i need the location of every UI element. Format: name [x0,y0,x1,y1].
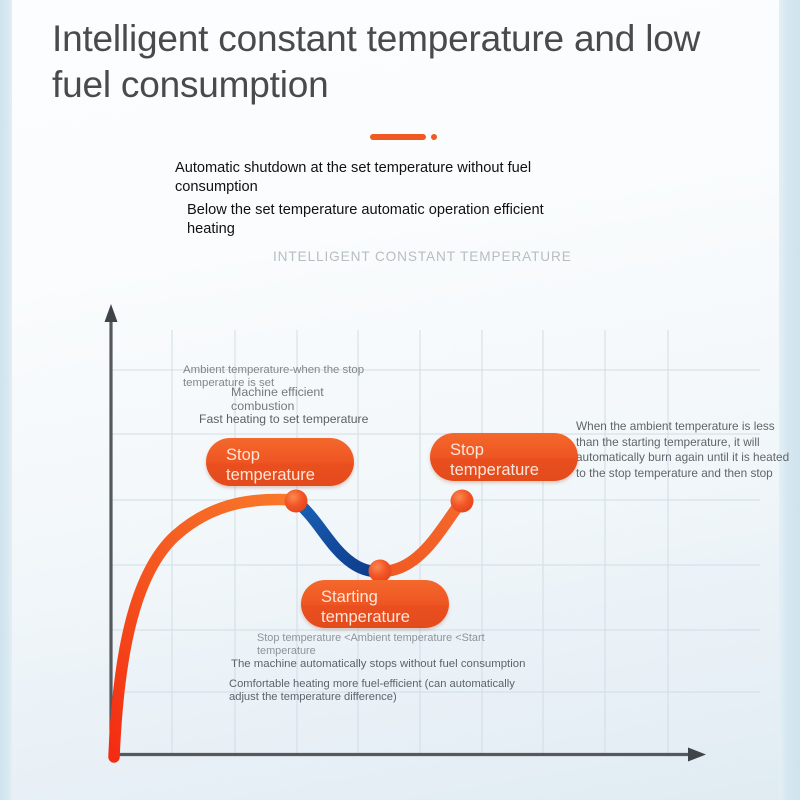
curve-shutdown-cooling [296,501,380,572]
annotation-machine-efficient: Machine efficient combustion [231,386,361,413]
annotation-comfortable: Comfortable heating more fuel-efficient … [229,678,537,704]
curve-fast-heating [114,499,296,757]
annotation-stop-lt-ambient: Stop temperature <Ambient temperature <S… [257,632,509,657]
y-axis-arrow-icon [105,304,118,322]
curve-reheating [380,501,462,572]
label-starting-temperature: Starting temperature [301,580,449,628]
infographic-page: Intelligent constant temperature and low… [0,0,800,800]
label-stop-temperature-2: Stop temperature [430,433,578,481]
x-axis-arrow-icon [688,748,706,762]
marker-stop-temperature-1 [285,490,308,513]
annotation-auto-stop: The machine automatically stops without … [231,658,531,671]
annotation-reheat-note: When the ambient temperature is less tha… [576,419,794,481]
label-stop-temperature-1: Stop temperature [206,438,354,486]
marker-stop-temperature-2 [451,490,474,513]
annotation-fast-heating: Fast heating to set temperature [199,412,429,426]
curve-markers [285,490,474,583]
